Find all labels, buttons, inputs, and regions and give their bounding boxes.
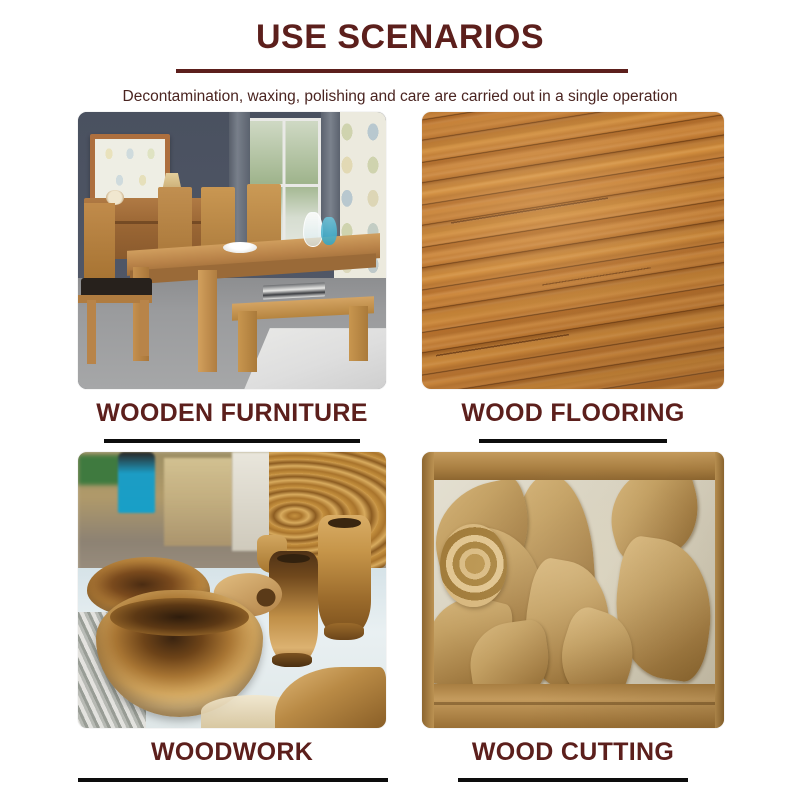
dining-glass-jug bbox=[303, 212, 323, 247]
scenario-card-woodwork[interactable]: WOODWORK bbox=[78, 452, 386, 782]
scenario-label-woodwork: WOODWORK bbox=[78, 738, 386, 767]
carving-lighting-overlay bbox=[422, 452, 724, 728]
flooring-lighting-overlay bbox=[422, 112, 724, 389]
woodwork-vase-tall bbox=[318, 515, 370, 636]
dining-table-leg-right bbox=[198, 270, 216, 372]
wood-cutting-photo bbox=[422, 452, 724, 728]
scenario-label-underline-woodwork bbox=[78, 778, 388, 782]
page-subtitle: Decontamination, waxing, polishing and c… bbox=[0, 88, 800, 106]
woodwork-photo bbox=[78, 452, 386, 728]
scenario-label-underline-wood-flooring bbox=[479, 439, 667, 443]
scenario-card-wood-flooring[interactable]: WOOD FLOORING bbox=[422, 112, 724, 443]
wood-flooring-photo bbox=[422, 112, 724, 389]
dining-bench-leg-left bbox=[238, 311, 256, 372]
dining-books bbox=[263, 282, 325, 299]
woodwork-background-chair bbox=[164, 458, 232, 546]
use-scenarios-page: USE SCENARIOS Decontamination, waxing, p… bbox=[0, 0, 800, 800]
dining-bench-leg-right bbox=[349, 306, 367, 361]
scenario-label-wooden-furniture: WOODEN FURNITURE bbox=[78, 399, 386, 428]
page-header: USE SCENARIOS Decontamination, waxing, p… bbox=[0, 0, 800, 57]
woodwork-background-foliage bbox=[78, 455, 121, 485]
scenario-label-wood-cutting: WOOD CUTTING bbox=[422, 738, 724, 767]
title-divider bbox=[176, 69, 628, 73]
scenario-card-wooden-furniture[interactable]: WOODEN FURNITURE bbox=[78, 112, 386, 443]
scenario-card-wood-cutting[interactable]: WOOD CUTTING bbox=[422, 452, 724, 782]
scenario-label-wood-flooring: WOOD FLOORING bbox=[422, 399, 724, 428]
woodwork-seated-person bbox=[118, 452, 155, 513]
scenario-label-underline-wooden-furniture bbox=[104, 439, 360, 443]
dining-chair-front-leg-right bbox=[140, 300, 149, 355]
page-title: USE SCENARIOS bbox=[0, 0, 800, 57]
dining-mirror-glass bbox=[95, 139, 165, 198]
scenario-label-underline-wood-cutting bbox=[458, 778, 688, 782]
woodwork-vase-middle-foot bbox=[272, 653, 312, 667]
woodwork-vase-middle bbox=[269, 551, 318, 664]
dining-chair-front-leg-left bbox=[87, 300, 96, 364]
woodwork-vase-tall-foot bbox=[324, 623, 364, 640]
dining-blue-jug bbox=[321, 217, 336, 245]
wooden-furniture-photo bbox=[78, 112, 386, 389]
